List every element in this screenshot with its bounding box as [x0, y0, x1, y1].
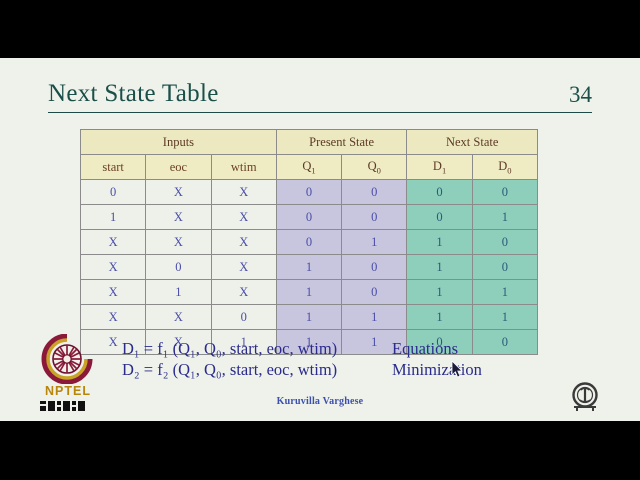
- letterbox-bottom: [0, 421, 640, 480]
- iisc-logo-icon: [568, 380, 602, 414]
- equations-block: D₁ = f₁ (Q₁, Q₀, start, eoc, wtim) D₂ = …: [122, 338, 337, 380]
- cell-q0: 1: [342, 230, 407, 255]
- cell-d0: 1: [472, 280, 537, 305]
- cell-wtim: 0: [211, 305, 276, 330]
- cell-eoc: X: [146, 180, 211, 205]
- slide-header: Next State Table 34: [48, 80, 592, 113]
- equation-d1: D₁ = f₁ (Q₁, Q₀, start, eoc, wtim): [122, 338, 337, 359]
- cell-q0: 0: [342, 280, 407, 305]
- label-minimization: Minimization: [392, 359, 482, 380]
- cell-wtim: X: [211, 205, 276, 230]
- lecture-slide: Next State Table 34 Inputs Present State…: [0, 58, 640, 421]
- cell-d1: 1: [407, 280, 472, 305]
- cell-eoc: X: [146, 205, 211, 230]
- letterbox-top: [0, 0, 640, 58]
- column-header-d0: D0: [472, 155, 537, 180]
- nptel-logo: NPTEL: [38, 334, 100, 412]
- label-equations: Equations: [392, 338, 482, 359]
- table-row: 1 X X 0 0 0 1: [81, 205, 538, 230]
- video-frame: Next State Table 34 Inputs Present State…: [0, 0, 640, 480]
- group-header-next-state: Next State: [407, 130, 538, 155]
- table-row: 0 X X 0 0 0 0: [81, 180, 538, 205]
- cell-eoc: X: [146, 305, 211, 330]
- next-state-table: Inputs Present State Next State start eo…: [80, 129, 538, 355]
- cell-d0: 0: [472, 230, 537, 255]
- page-title: Next State Table: [48, 80, 219, 108]
- cell-q1: 0: [276, 180, 341, 205]
- column-header-start: start: [81, 155, 146, 180]
- nptel-wordmark: NPTEL: [38, 384, 98, 398]
- nptel-emblem-icon: [40, 334, 94, 384]
- cell-q1: 1: [276, 255, 341, 280]
- column-header-q1: Q1: [276, 155, 341, 180]
- cell-q1: 0: [276, 230, 341, 255]
- table-head: Inputs Present State Next State start eo…: [81, 130, 538, 180]
- table-row: X 0 X 1 0 1 0: [81, 255, 538, 280]
- cell-start: 1: [81, 205, 146, 230]
- cell-d1: 1: [407, 230, 472, 255]
- group-header-present-state: Present State: [276, 130, 407, 155]
- cell-d1: 0: [407, 205, 472, 230]
- cell-d0: 1: [472, 205, 537, 230]
- cell-start: X: [81, 280, 146, 305]
- table-row: X 1 X 1 0 1 1: [81, 280, 538, 305]
- cell-wtim: X: [211, 180, 276, 205]
- cell-eoc: 0: [146, 255, 211, 280]
- cell-wtim: X: [211, 280, 276, 305]
- cell-q0: 0: [342, 180, 407, 205]
- table-row: X X 0 1 1 1 1: [81, 305, 538, 330]
- cell-start: X: [81, 255, 146, 280]
- cell-d0: 0: [472, 180, 537, 205]
- cell-eoc: 1: [146, 280, 211, 305]
- cell-q0: 0: [342, 205, 407, 230]
- column-header-eoc: eoc: [146, 155, 211, 180]
- cell-d1: 1: [407, 305, 472, 330]
- cell-eoc: X: [146, 230, 211, 255]
- cell-wtim: X: [211, 230, 276, 255]
- equation-d2: D₂ = f₂ (Q₁, Q₀, start, eoc, wtim): [122, 359, 337, 380]
- group-header-inputs: Inputs: [81, 130, 277, 155]
- cell-d0: 0: [472, 255, 537, 280]
- cell-start: X: [81, 305, 146, 330]
- table-row: X X X 0 1 1 0: [81, 230, 538, 255]
- column-header-d1: D1: [407, 155, 472, 180]
- cell-wtim: X: [211, 255, 276, 280]
- column-header-wtim: wtim: [211, 155, 276, 180]
- cell-d0: 1: [472, 305, 537, 330]
- cell-d1: 1: [407, 255, 472, 280]
- table-column-header-row: start eoc wtim Q1 Q0 D1 D0: [81, 155, 538, 180]
- cell-d1: 0: [407, 180, 472, 205]
- cell-q1: 0: [276, 205, 341, 230]
- column-header-q0: Q0: [342, 155, 407, 180]
- cell-q0: 1: [342, 305, 407, 330]
- table-group-header-row: Inputs Present State Next State: [81, 130, 538, 155]
- cell-start: X: [81, 230, 146, 255]
- cell-q1: 1: [276, 305, 341, 330]
- table-body: 0 X X 0 0 0 0 1 X X 0 0 0 1: [81, 180, 538, 355]
- cell-q1: 1: [276, 280, 341, 305]
- cell-start: 0: [81, 180, 146, 205]
- cell-q0: 0: [342, 255, 407, 280]
- equation-labels-block: Equations Minimization: [392, 338, 482, 380]
- cell-d0: 0: [472, 330, 537, 355]
- nptel-barcode-icon: [40, 400, 92, 412]
- page-number: 34: [569, 82, 592, 108]
